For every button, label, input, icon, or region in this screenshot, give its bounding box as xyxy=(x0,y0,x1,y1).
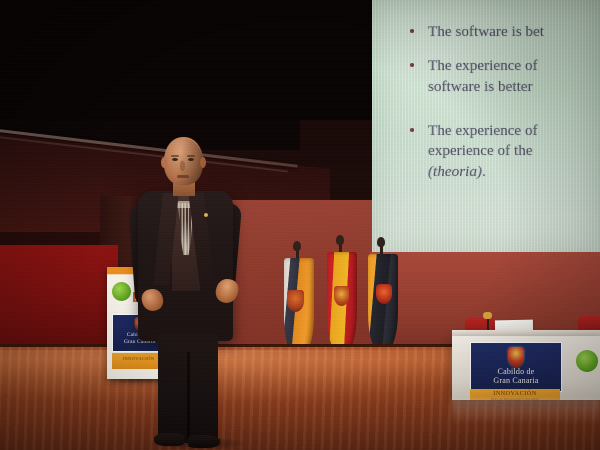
innovacion-band-text: INNOVACIÓN xyxy=(470,391,560,397)
speaker-shoe-right xyxy=(188,435,220,448)
speaker-brow-right xyxy=(187,155,195,157)
photo-scene: The software is bet The experience of so… xyxy=(0,0,600,450)
slide-bullet-2: The experience of software is better xyxy=(408,56,600,97)
slide-bullet-2-line2: software is better xyxy=(428,78,533,95)
slide-bullet-2-text: The experience of xyxy=(428,57,538,74)
flag-finial xyxy=(293,241,301,251)
speaker-shoe-left xyxy=(154,433,184,446)
speaker-nose xyxy=(180,161,185,171)
slide-bullet-3-text: The experience of xyxy=(428,122,538,139)
slide-bullet-1: The software is bet xyxy=(408,22,600,42)
speaker-eye-left xyxy=(172,158,178,161)
microphone-icon xyxy=(483,312,492,319)
speaker-ear-right xyxy=(200,157,206,168)
auditorium-ceiling-shadow xyxy=(0,0,380,120)
slide-bullet-3-line2: experience of the xyxy=(428,142,533,159)
slide-bullet-1-text: The software is bet xyxy=(428,23,544,40)
speaker-figure xyxy=(120,137,260,450)
slide-bullet-list: The software is bet The experience of so… xyxy=(408,22,600,196)
cabildo-line2: Gran Canaria xyxy=(493,376,538,385)
flag-crest-icon xyxy=(287,290,304,312)
table-reflection xyxy=(452,398,600,424)
cabildo-sign: Cabildo de Gran Canaria xyxy=(470,342,562,392)
cabildo-sign-text: Cabildo de Gran Canaria xyxy=(471,367,561,386)
flag-crest-icon xyxy=(376,284,392,304)
speaker-ear-left xyxy=(161,157,167,168)
flag-finial xyxy=(336,235,344,245)
speaker-mouth xyxy=(177,175,189,178)
red-wall-panel xyxy=(0,245,118,357)
coat-of-arms-icon xyxy=(508,347,524,367)
flag-finial xyxy=(377,237,385,247)
slide-bullet-3: The experience of experience of the (the… xyxy=(408,121,600,182)
speaker-brow-left xyxy=(171,155,179,157)
panel-table: Cabildo de Gran Canaria INNOVACIÓN Área … xyxy=(452,336,600,400)
speaker-leg-separation xyxy=(187,352,190,440)
flag-crest-icon xyxy=(334,286,349,306)
speaker-eye-right xyxy=(188,158,194,161)
cabildo-line1: Cabildo de xyxy=(498,367,535,376)
slide-bullet-3-italic: (theoria) xyxy=(428,163,482,180)
slide-bullet-3-tail: . xyxy=(482,163,486,180)
green-circle-logo-icon xyxy=(576,350,598,372)
lapel-pin-icon xyxy=(204,213,208,217)
projection-screen: The software is bet The experience of so… xyxy=(372,0,600,252)
